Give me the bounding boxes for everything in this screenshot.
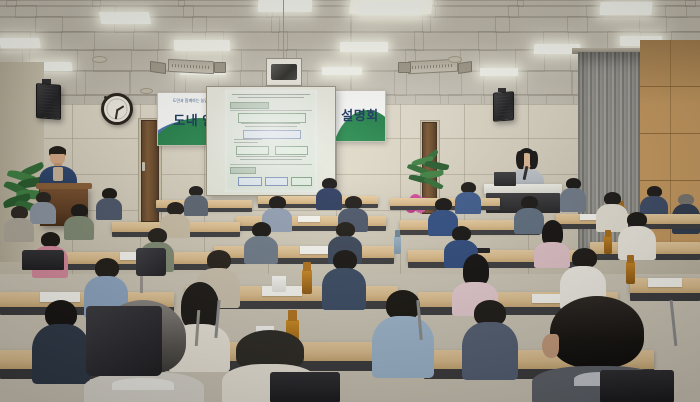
chair[interactable] <box>600 370 674 402</box>
chair[interactable] <box>22 250 64 270</box>
attendee <box>96 188 122 218</box>
ceiling-light <box>358 2 422 15</box>
podium-top <box>36 183 92 189</box>
ac-vent <box>150 61 166 74</box>
handout-paper[interactable] <box>298 216 320 222</box>
banner-right: 설명회 <box>334 90 386 142</box>
shoulder-bag[interactable] <box>136 248 166 276</box>
ceiling-light <box>0 38 41 48</box>
backpack[interactable] <box>86 306 162 376</box>
wall-speaker <box>36 83 61 120</box>
ceiling-light <box>599 2 652 15</box>
attendee <box>32 300 90 380</box>
attendee <box>64 204 94 238</box>
drink-bottle[interactable] <box>626 262 635 284</box>
attendee <box>372 290 434 374</box>
door-handle[interactable] <box>142 162 145 171</box>
attendee <box>462 300 518 376</box>
ear <box>542 334 559 358</box>
smoke-detector <box>140 88 153 94</box>
banner-right-title: 설명회 <box>335 105 385 124</box>
ceiling-light <box>99 12 152 24</box>
paper-cup[interactable] <box>272 276 286 292</box>
smartphone[interactable] <box>476 248 490 253</box>
ceiling-light <box>258 0 313 12</box>
bottle-cap <box>288 310 297 321</box>
collar <box>112 378 174 390</box>
attendee <box>618 212 656 258</box>
bottle-cap <box>395 230 400 237</box>
ac-vent <box>398 62 411 73</box>
ac-vent <box>458 61 472 74</box>
smoke-detector <box>92 56 107 63</box>
bottle-cap <box>627 255 634 263</box>
dark-hair <box>550 296 644 368</box>
smoke-detector <box>448 56 462 63</box>
wall-seam <box>40 174 640 175</box>
wall-clock <box>101 93 133 125</box>
handout-paper[interactable] <box>648 278 682 287</box>
ceiling-light <box>340 42 388 52</box>
attendee <box>244 222 278 262</box>
projector-mount-pole <box>283 0 284 58</box>
drink-bottle[interactable] <box>302 270 312 294</box>
drink-bottle[interactable] <box>394 236 401 254</box>
attendee <box>455 182 481 212</box>
bottle-cap <box>605 230 611 237</box>
attendee <box>560 178 586 210</box>
ceiling-light <box>174 40 231 51</box>
conference-room-photo: 도민과 함께하는 농업정책 도내 안 설명회 <box>0 0 700 402</box>
ceiling-light <box>480 68 518 76</box>
attendee <box>4 206 34 240</box>
presenter-shirt <box>53 167 63 181</box>
ceiling-air-conditioner <box>168 59 214 74</box>
wall-speaker <box>493 91 514 121</box>
av-cabinet <box>494 172 516 186</box>
ceiling-projector <box>266 58 302 86</box>
clock-center-pin <box>104 96 107 99</box>
ac-vent <box>214 62 226 73</box>
chair[interactable] <box>270 372 340 402</box>
ceiling-light <box>322 67 362 75</box>
chair-leg <box>670 300 678 346</box>
bottle-cap <box>303 262 311 271</box>
attendee <box>322 250 366 308</box>
